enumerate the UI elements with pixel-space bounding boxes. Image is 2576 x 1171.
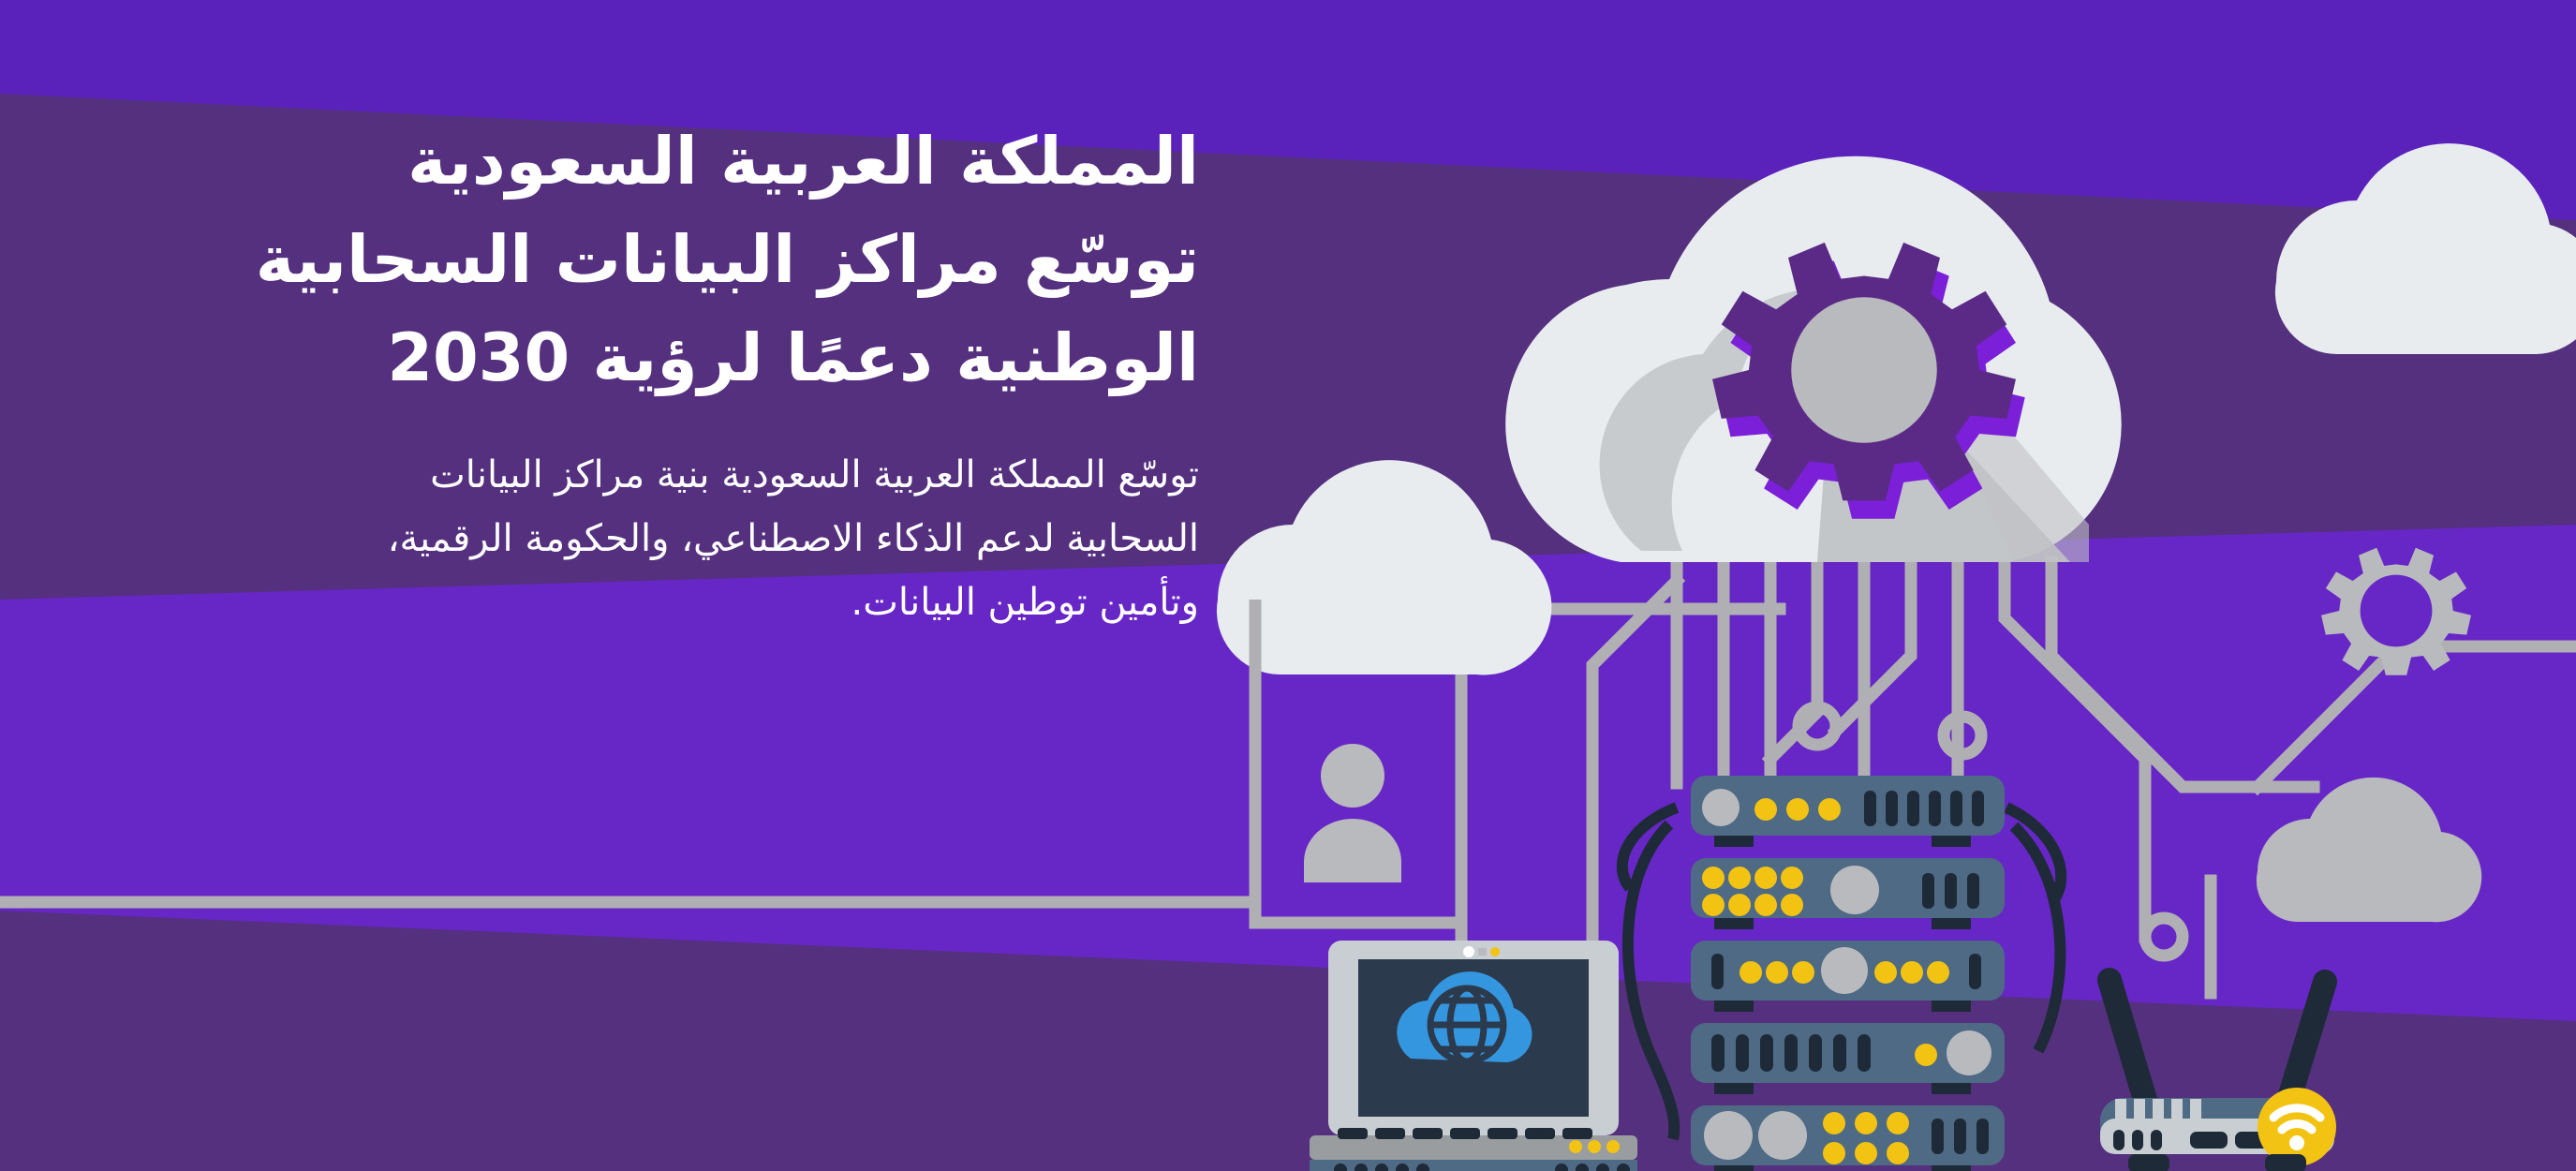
body-copy: توسّع المملكة العربية السعودية بنية مراك… — [122, 443, 1199, 634]
body-line-2: السحابية لدعم الذكاء الاصطناعي، والحكومة… — [122, 507, 1199, 571]
text-block: المملكة العربية السعودية توسّع مراكز الب… — [122, 112, 1199, 634]
headline-line-2: توسّع مراكز البيانات السحابية — [122, 211, 1199, 309]
page-title: المملكة العربية السعودية توسّع مراكز الب… — [122, 112, 1199, 408]
bracket-line — [0, 600, 1255, 902]
body-line-3: وتأمين توطين البيانات. — [122, 571, 1199, 634]
body-line-1: توسّع المملكة العربية السعودية بنية مراك… — [122, 443, 1199, 507]
infographic-banner: المملكة العربية السعودية توسّع مراكز الب… — [0, 0, 2576, 1171]
headline-line-3: الوطنية دعمًا لرؤية 2030 — [122, 309, 1199, 408]
headline-line-1: المملكة العربية السعودية — [122, 112, 1199, 211]
